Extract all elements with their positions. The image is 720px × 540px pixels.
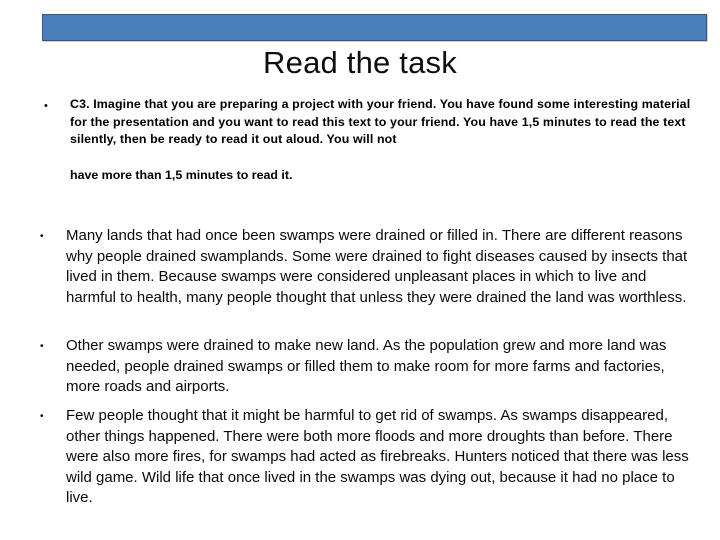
- list-item: • Many lands that had once been swamps w…: [40, 226, 696, 308]
- bullet-point-icon: •: [40, 336, 66, 352]
- title-accent-bar: [42, 14, 707, 41]
- passage-paragraph-text: Many lands that had once been swamps wer…: [66, 226, 696, 308]
- presentation-slide: Read the task • C3. Imagine that you are…: [0, 0, 720, 540]
- bullet-point-icon: •: [44, 96, 70, 112]
- page-title: Read the task: [0, 46, 720, 80]
- bullet-point-icon: •: [40, 226, 66, 242]
- task-instruction-text: C3. Imagine that you are preparing a pro…: [70, 96, 692, 149]
- task-instruction-continuation-text: have more than 1,5 minutes to read it: [70, 168, 289, 182]
- task-instruction-continuation: have more than 1,5 minutes to read it.: [44, 167, 692, 185]
- list-item: • C3. Imagine that you are preparing a p…: [44, 96, 692, 149]
- passage-paragraph-text: Other swamps were drained to make new la…: [66, 336, 696, 398]
- passage-paragraph-text: Few people thought that it might be harm…: [66, 406, 696, 509]
- bullet-point-icon: •: [40, 406, 66, 422]
- task-instruction-block: • C3. Imagine that you are preparing a p…: [44, 96, 692, 184]
- list-item: • Other swamps were drained to make new …: [40, 336, 696, 398]
- list-item: • Few people thought that it might be ha…: [40, 406, 696, 509]
- task-instruction-end-dot: .: [289, 168, 292, 182]
